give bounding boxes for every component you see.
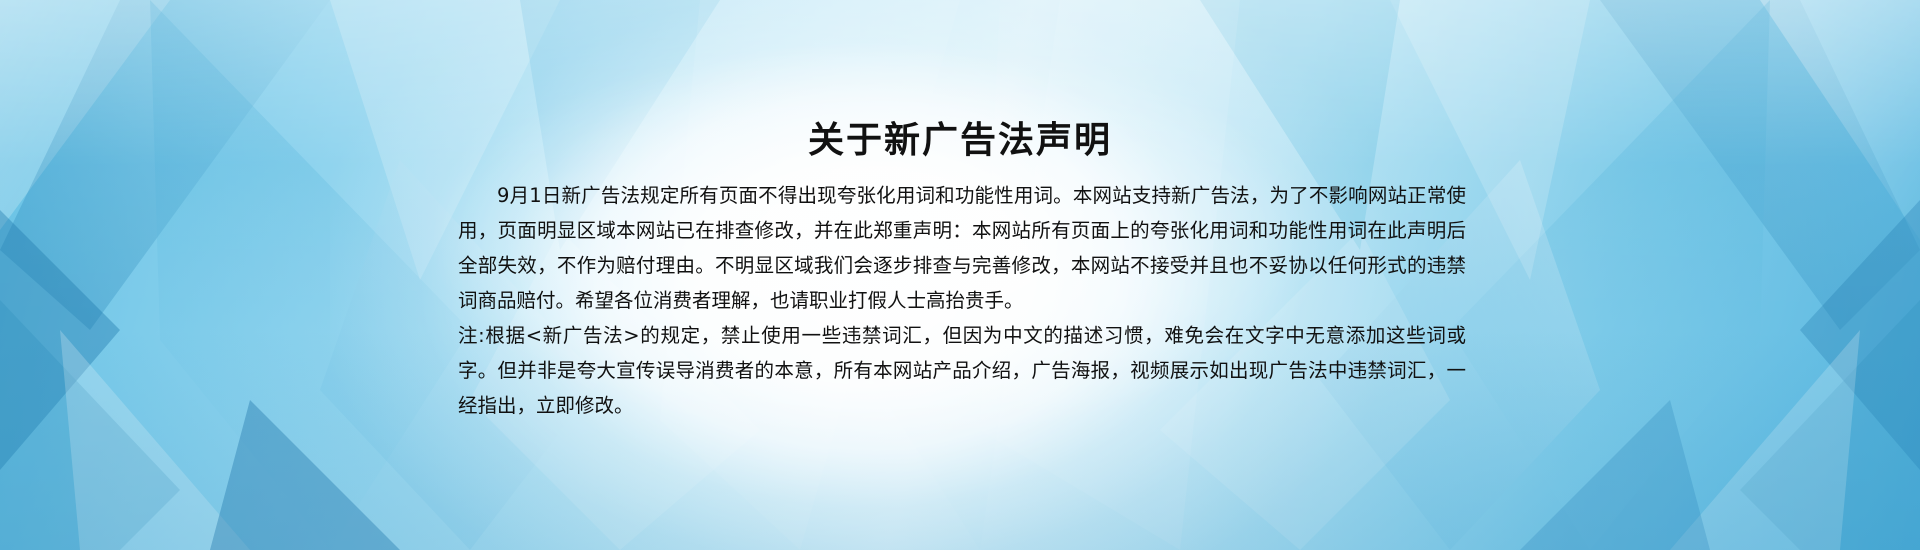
advertising-law-notice-banner: 关于新广告法声明 9月1日新广告法规定所有页面不得出现夸张化用词和功能性用词。本… (0, 0, 1920, 550)
notice-content: 关于新广告法声明 9月1日新广告法规定所有页面不得出现夸张化用词和功能性用词。本… (0, 0, 1920, 550)
notice-body: 9月1日新广告法规定所有页面不得出现夸张化用词和功能性用词。本网站支持新广告法，… (458, 178, 1466, 423)
page-title: 关于新广告法声明 (0, 111, 1920, 163)
notice-paragraph-2: 注:根据<新广告法>的规定，禁止使用一些违禁词汇，但因为中文的描述习惯，难免会在… (458, 318, 1466, 423)
notice-paragraph-1: 9月1日新广告法规定所有页面不得出现夸张化用词和功能性用词。本网站支持新广告法，… (458, 178, 1466, 318)
